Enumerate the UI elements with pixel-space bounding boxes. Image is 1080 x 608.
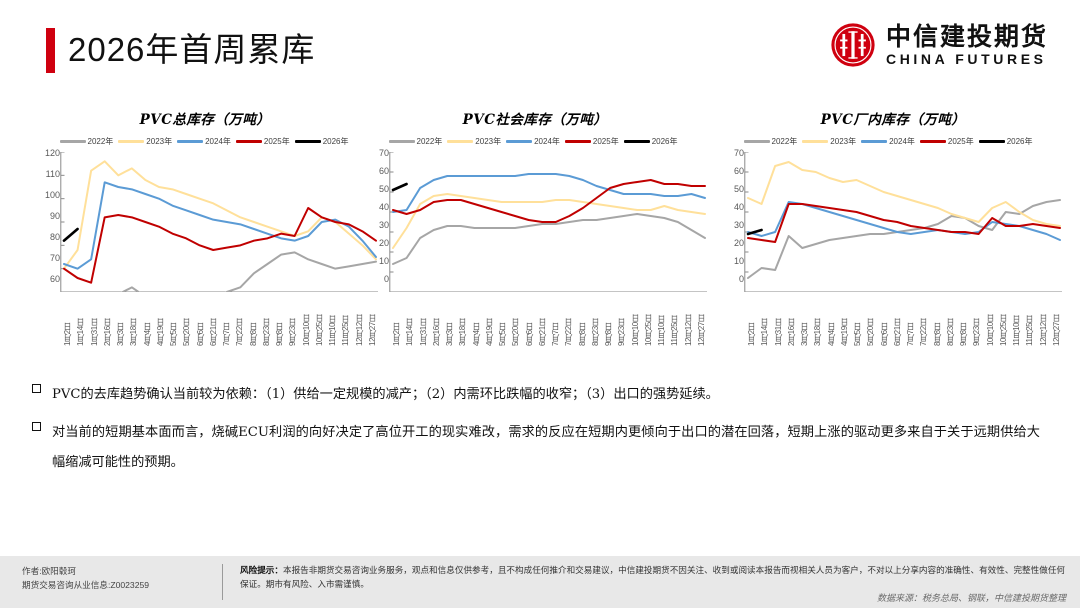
x-tick-label: 10月25日 xyxy=(643,288,654,346)
x-tick-label: 8月23日 xyxy=(945,288,956,346)
footer-divider xyxy=(222,564,223,600)
x-tick-label: 1月14日 xyxy=(759,288,770,346)
x-tick-label: 10月10日 xyxy=(985,288,996,346)
y-tick-label: 70 xyxy=(734,149,744,157)
plot-svg xyxy=(60,152,378,292)
x-tick-label: 9月8日 xyxy=(274,288,285,346)
legend-item-2025年: 2025年 xyxy=(920,136,974,147)
x-tick-label: 4月19日 xyxy=(839,288,850,346)
y-tick-label: 30 xyxy=(734,221,744,229)
charts-row: PVC总库存（万吨） 2022年2023年2024年2025年2026年 120… xyxy=(0,100,1080,360)
x-tick-label: 11月10日 xyxy=(1011,288,1022,346)
y-tick-label: 60 xyxy=(50,275,60,283)
company-logo: 中信建投期货 CHINA FUTURES xyxy=(830,22,1048,68)
y-tick-label: 100 xyxy=(45,191,60,199)
chart-pvc-total-inventory: PVC总库存（万吨） 2022年2023年2024年2025年2026年 120… xyxy=(26,100,378,358)
y-tick-label: 20 xyxy=(734,239,744,247)
data-source-note: 数据来源：税务总局、钢联，中信建投期货整理 xyxy=(877,591,1066,604)
x-tick-label: 7月22日 xyxy=(234,288,245,346)
x-tick-label: 1月2日 xyxy=(62,288,73,346)
x-tick-label: 4月4日 xyxy=(142,288,153,346)
x-tick-label: 2月16日 xyxy=(102,288,113,346)
x-tick-label: 7月7日 xyxy=(905,288,916,346)
x-tick-label: 2月16日 xyxy=(786,288,797,346)
x-tick-label: 11月25日 xyxy=(669,288,680,346)
y-tick-label: 60 xyxy=(379,167,389,175)
series-line-2023年 xyxy=(64,161,376,268)
legend-item-2024年: 2024年 xyxy=(506,136,560,147)
y-tick-label: 80 xyxy=(50,233,60,241)
plot-svg xyxy=(389,152,707,292)
legend-swatch xyxy=(389,140,415,143)
chart-title: PVC社会库存（万吨） xyxy=(355,108,707,128)
x-axis-labels: 1月2日1月14日1月31日2月16日3月3日3月18日4月4日4月19日5月5… xyxy=(391,288,707,358)
author-name: 作者:欧阳毂珂 xyxy=(22,564,212,578)
chart-legend: 2022年2023年2024年2025年2026年 xyxy=(718,136,1058,147)
y-axis-labels: 12011010090807060 xyxy=(26,152,60,286)
legend-swatch xyxy=(565,140,591,143)
x-tick-label: 6月6日 xyxy=(195,288,206,346)
plot-svg xyxy=(744,152,1062,292)
citic-circle-logo-icon xyxy=(830,22,876,68)
x-tick-label: 5月5日 xyxy=(168,288,179,346)
x-tick-label: 6月21日 xyxy=(537,288,548,346)
legend-swatch xyxy=(236,140,262,143)
x-tick-label: 12月27日 xyxy=(696,288,707,346)
x-tick-label: 4月19日 xyxy=(155,288,166,346)
x-tick-label: 1月31日 xyxy=(89,288,100,346)
legend-item-2026年: 2026年 xyxy=(295,136,349,147)
x-tick-label: 9月8日 xyxy=(958,288,969,346)
x-tick-label: 6月6日 xyxy=(879,288,890,346)
legend-item-2025年: 2025年 xyxy=(565,136,619,147)
x-tick-label: 6月21日 xyxy=(892,288,903,346)
chart-pvc-social-inventory: PVC社会库存（万吨） 2022年2023年2024年2025年2026年 70… xyxy=(355,100,707,358)
x-tick-label: 3月18日 xyxy=(457,288,468,346)
legend-swatch xyxy=(118,140,144,143)
legend-item-2024年: 2024年 xyxy=(177,136,231,147)
y-tick-label: 40 xyxy=(379,203,389,211)
legend-swatch xyxy=(60,140,86,143)
x-tick-label: 11月25日 xyxy=(340,288,351,346)
legend-item-2022年: 2022年 xyxy=(389,136,443,147)
legend-swatch xyxy=(744,140,770,143)
bullet-text: 对当前的短期基本面而言，烧碱ECU利润的向好决定了高位开工的现实难改，需求的反应… xyxy=(52,418,1040,478)
y-tick-label: 70 xyxy=(50,254,60,262)
series-line-2026年 xyxy=(64,229,78,241)
logo-text-block: 中信建投期货 CHINA FUTURES xyxy=(886,24,1048,67)
legend-label: 2024年 xyxy=(534,136,560,147)
x-tick-label: 12月27日 xyxy=(1051,288,1062,346)
x-tick-label: 5月20日 xyxy=(181,288,192,346)
legend-swatch xyxy=(861,140,887,143)
y-tick-label: 40 xyxy=(734,203,744,211)
x-tick-label: 4月19日 xyxy=(484,288,495,346)
x-tick-label: 5月5日 xyxy=(497,288,508,346)
y-tick-label: 120 xyxy=(45,149,60,157)
legend-label: 2025年 xyxy=(948,136,974,147)
x-tick-label: 9月23日 xyxy=(971,288,982,346)
x-tick-label: 1月2日 xyxy=(391,288,402,346)
x-axis-labels: 1月2日1月14日1月31日2月16日3月3日3月18日4月4日4月19日5月5… xyxy=(62,288,378,358)
chart-title: PVC厂内库存（万吨） xyxy=(710,108,1062,128)
legend-item-2022年: 2022年 xyxy=(744,136,798,147)
author-license: 期货交易咨询从业信息:Z0023259 xyxy=(22,578,212,592)
bullet-list: PVC的去库趋势确认当前较为依赖：（1）供给一定规模的减产；（2）内需环比跌幅的… xyxy=(0,380,1080,540)
legend-label: 2026年 xyxy=(323,136,349,147)
series-line-2025年 xyxy=(748,204,1060,242)
chart-legend: 2022年2023年2024年2025年2026年 xyxy=(34,136,374,147)
x-tick-label: 5月20日 xyxy=(865,288,876,346)
plot-area: 12011010090807060 1月2日1月14日1月31日2月16日3月3… xyxy=(26,152,378,352)
x-tick-label: 5月5日 xyxy=(852,288,863,346)
page-title: 2026年首周累库 xyxy=(68,26,315,74)
x-tick-label: 9月8日 xyxy=(603,288,614,346)
legend-label: 2025年 xyxy=(593,136,619,147)
series-line-2026年 xyxy=(393,184,407,190)
x-tick-label: 8月23日 xyxy=(590,288,601,346)
legend-label: 2024年 xyxy=(889,136,915,147)
series-line-2025年 xyxy=(64,208,376,283)
logo-name-cn: 中信建投期货 xyxy=(886,24,1048,51)
bullet-item: 对当前的短期基本面而言，烧碱ECU利润的向好决定了高位开工的现实难改，需求的反应… xyxy=(0,418,1080,478)
x-tick-label: 8月8日 xyxy=(577,288,588,346)
x-tick-label: 12月12日 xyxy=(683,288,694,346)
legend-label: 2023年 xyxy=(146,136,172,147)
y-tick-label: 60 xyxy=(734,167,744,175)
y-tick-label: 10 xyxy=(734,257,744,265)
x-tick-label: 8月8日 xyxy=(248,288,259,346)
legend-label: 2026年 xyxy=(652,136,678,147)
legend-item-2026年: 2026年 xyxy=(979,136,1033,147)
legend-item-2023年: 2023年 xyxy=(118,136,172,147)
x-tick-label: 2月16日 xyxy=(431,288,442,346)
x-tick-label: 8月23日 xyxy=(261,288,272,346)
y-tick-label: 30 xyxy=(379,221,389,229)
x-tick-label: 4月4日 xyxy=(471,288,482,346)
legend-swatch xyxy=(506,140,532,143)
legend-label: 2022年 xyxy=(772,136,798,147)
x-tick-label: 6月6日 xyxy=(524,288,535,346)
x-tick-label: 1月31日 xyxy=(773,288,784,346)
x-tick-label: 1月31日 xyxy=(418,288,429,346)
legend-swatch xyxy=(447,140,473,143)
x-tick-label: 3月18日 xyxy=(812,288,823,346)
x-tick-label: 1月14日 xyxy=(75,288,86,346)
x-tick-label: 3月3日 xyxy=(799,288,810,346)
x-tick-label: 1月2日 xyxy=(746,288,757,346)
legend-label: 2023年 xyxy=(475,136,501,147)
legend-swatch xyxy=(802,140,828,143)
y-tick-label: 50 xyxy=(379,185,389,193)
x-tick-label: 8月8日 xyxy=(932,288,943,346)
chart-legend: 2022年2023年2024年2025年2026年 xyxy=(363,136,703,147)
plot-area: 706050403020100 1月2日1月14日1月31日2月16日3月3日3… xyxy=(355,152,707,352)
legend-item-2024年: 2024年 xyxy=(861,136,915,147)
x-tick-label: 3月3日 xyxy=(444,288,455,346)
legend-label: 2022年 xyxy=(417,136,443,147)
x-tick-label: 7月22日 xyxy=(918,288,929,346)
logo-name-en: CHINA FUTURES xyxy=(886,51,1048,67)
legend-item-2025年: 2025年 xyxy=(236,136,290,147)
risk-disclaimer: 风险提示：本报告非期货交易咨询业务服务，观点和信息仅供参考，且不构成任何推介和交… xyxy=(240,564,1066,591)
x-tick-label: 11月10日 xyxy=(327,288,338,346)
legend-item-2023年: 2023年 xyxy=(447,136,501,147)
x-tick-label: 6月21日 xyxy=(208,288,219,346)
series-line-2023年 xyxy=(748,162,1060,226)
legend-label: 2022年 xyxy=(88,136,114,147)
x-tick-label: 10月10日 xyxy=(630,288,641,346)
y-axis-labels: 706050403020100 xyxy=(710,152,744,286)
legend-item-2023年: 2023年 xyxy=(802,136,856,147)
x-tick-label: 10月10日 xyxy=(301,288,312,346)
risk-text: 本报告非期货交易咨询业务服务，观点和信息仅供参考，且不构成任何推介和交易建议，中… xyxy=(240,565,1065,589)
x-tick-label: 11月25日 xyxy=(1024,288,1035,346)
x-tick-label: 5月20日 xyxy=(510,288,521,346)
series-line-2022年 xyxy=(748,200,1060,278)
title-accent-bar xyxy=(46,28,55,73)
chart-pvc-plant-inventory: PVC厂内库存（万吨） 2022年2023年2024年2025年2026年 70… xyxy=(710,100,1062,358)
x-tick-label: 1月14日 xyxy=(404,288,415,346)
slide-root: 2026年首周累库 中信建投期货 CHINA FUTURES PVC总库存（万吨… xyxy=(0,0,1080,608)
legend-label: 2024年 xyxy=(205,136,231,147)
x-tick-label: 3月3日 xyxy=(115,288,126,346)
x-tick-label: 7月7日 xyxy=(221,288,232,346)
risk-label: 风险提示： xyxy=(240,565,283,575)
slide-header: 2026年首周累库 中信建投期货 CHINA FUTURES xyxy=(0,0,1080,96)
legend-label: 2025年 xyxy=(264,136,290,147)
legend-swatch xyxy=(295,140,321,143)
legend-item-2022年: 2022年 xyxy=(60,136,114,147)
x-tick-label: 4月4日 xyxy=(826,288,837,346)
plot-area: 706050403020100 1月2日1月14日1月31日2月16日3月3日3… xyxy=(710,152,1062,352)
x-tick-label: 9月23日 xyxy=(287,288,298,346)
y-tick-label: 90 xyxy=(50,212,60,220)
bullet-item: PVC的去库趋势确认当前较为依赖：（1）供给一定规模的减产；（2）内需环比跌幅的… xyxy=(0,380,1080,410)
x-tick-label: 7月7日 xyxy=(550,288,561,346)
legend-swatch xyxy=(624,140,650,143)
x-tick-label: 3月18日 xyxy=(128,288,139,346)
x-tick-label: 9月23日 xyxy=(616,288,627,346)
y-tick-label: 20 xyxy=(379,239,389,247)
legend-item-2026年: 2026年 xyxy=(624,136,678,147)
y-tick-label: 10 xyxy=(379,257,389,265)
y-tick-label: 50 xyxy=(734,185,744,193)
y-tick-label: 110 xyxy=(46,170,60,178)
bullet-text: PVC的去库趋势确认当前较为依赖：（1）供给一定规模的减产；（2）内需环比跌幅的… xyxy=(52,380,1040,410)
x-tick-label: 11月10日 xyxy=(656,288,667,346)
x-tick-label: 7月22日 xyxy=(563,288,574,346)
chart-title: PVC总库存（万吨） xyxy=(26,108,378,128)
x-tick-label: 10月25日 xyxy=(314,288,325,346)
x-tick-label: 12月12日 xyxy=(1038,288,1049,346)
x-tick-label: 10月25日 xyxy=(998,288,1009,346)
legend-label: 2023年 xyxy=(830,136,856,147)
slide-footer: 作者:欧阳毂珂 期货交易咨询从业信息:Z0023259 风险提示：本报告非期货交… xyxy=(0,556,1080,608)
series-line-2024年 xyxy=(64,182,376,268)
legend-swatch xyxy=(177,140,203,143)
series-line-2024年 xyxy=(393,174,705,212)
y-axis-labels: 706050403020100 xyxy=(355,152,389,286)
legend-swatch xyxy=(920,140,946,143)
x-axis-labels: 1月2日1月14日1月31日2月16日3月3日3月18日4月4日4月19日5月5… xyxy=(746,288,1062,358)
series-line-2022年 xyxy=(64,252,376,292)
legend-swatch xyxy=(979,140,1005,143)
legend-label: 2026年 xyxy=(1007,136,1033,147)
author-block: 作者:欧阳毂珂 期货交易咨询从业信息:Z0023259 xyxy=(22,564,212,592)
bullet-square-icon xyxy=(32,422,41,431)
bullet-square-icon xyxy=(32,384,41,393)
y-tick-label: 70 xyxy=(379,149,389,157)
